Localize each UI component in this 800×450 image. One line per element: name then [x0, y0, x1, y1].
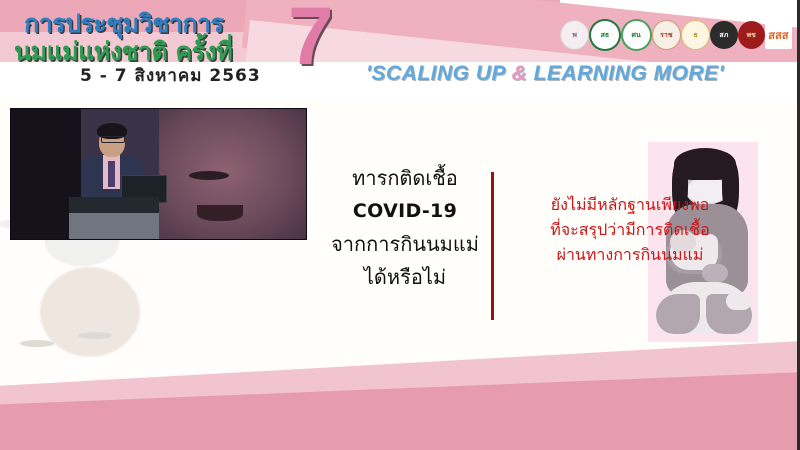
sponsor-logo-row: พ สธ ศน ราช ธ สภ พช สสส [560, 18, 792, 52]
speaker-tie [108, 161, 115, 187]
baby-left-eye [20, 340, 54, 347]
baby-right-eye [78, 332, 112, 339]
logo-thai-royal-emblem: พ [560, 20, 589, 50]
projected-baby-eye [189, 171, 229, 180]
speaker-glasses-icon [101, 136, 125, 143]
projected-baby-mouth [197, 205, 243, 221]
question-line-1: ทารกติดเชื้อ [325, 162, 485, 195]
conference-date: 5 - 7 สิงหาคม 2563 [80, 62, 261, 89]
presentation-slide: การประชุมวิชาการ นมแม่แห่งชาติ ครั้งที่ … [0, 0, 800, 450]
mother-foot [726, 292, 752, 310]
answer-line-2: ที่จะสรุปว่ามีการติดเชื้อ [505, 217, 755, 242]
logo-breastfeeding-center: ศน [621, 19, 652, 51]
slide-canvas: ทารกติดเชื้อ COVID-19 จากการกินนมแม่ ได้… [0, 100, 800, 450]
logo-nursing-council: สภ [710, 21, 737, 49]
answer-line-3: ผ่านทางการกินนมแม่ [505, 242, 755, 267]
vertical-divider [491, 172, 494, 320]
logo-ministry-public-health: สธ [589, 19, 620, 51]
conference-edition-number: 7 [288, 0, 334, 78]
logo-thai-health-sso: สสส [765, 21, 792, 49]
podium-top [69, 197, 159, 213]
conference-header-banner: การประชุมวิชาการ นมแม่แห่งชาติ ครั้งที่ … [0, 0, 800, 100]
logo-medical-council: พช [738, 21, 765, 49]
conference-tagline: 'SCALING UP & LEARNING MORE' [366, 62, 724, 86]
question-line-4: ได้หรือไม่ [325, 261, 485, 294]
logo-national-emblem: ธ [681, 20, 710, 50]
answer-text-block: ยังไม่มีหลักฐานเพียงพอ ที่จะสรุปว่ามีการ… [505, 192, 755, 267]
logo-royal-college: ราช [652, 20, 681, 50]
answer-line-1: ยังไม่มีหลักฐานเพียงพอ [505, 192, 755, 217]
tagline-prefix: 'SCALING UP [366, 62, 512, 85]
speaker-video-feed[interactable] [10, 108, 307, 240]
mother-leg-left [656, 294, 700, 334]
question-line-3: จากการกินนมแม่ [325, 228, 485, 261]
question-line-2-covid: COVID-19 [325, 195, 485, 228]
question-text-block: ทารกติดเชื้อ COVID-19 จากการกินนมแม่ ได้… [325, 162, 485, 294]
tagline-ampersand: & [512, 62, 528, 85]
video-projection-screen [159, 109, 306, 239]
tagline-suffix: LEARNING MORE' [527, 62, 724, 85]
